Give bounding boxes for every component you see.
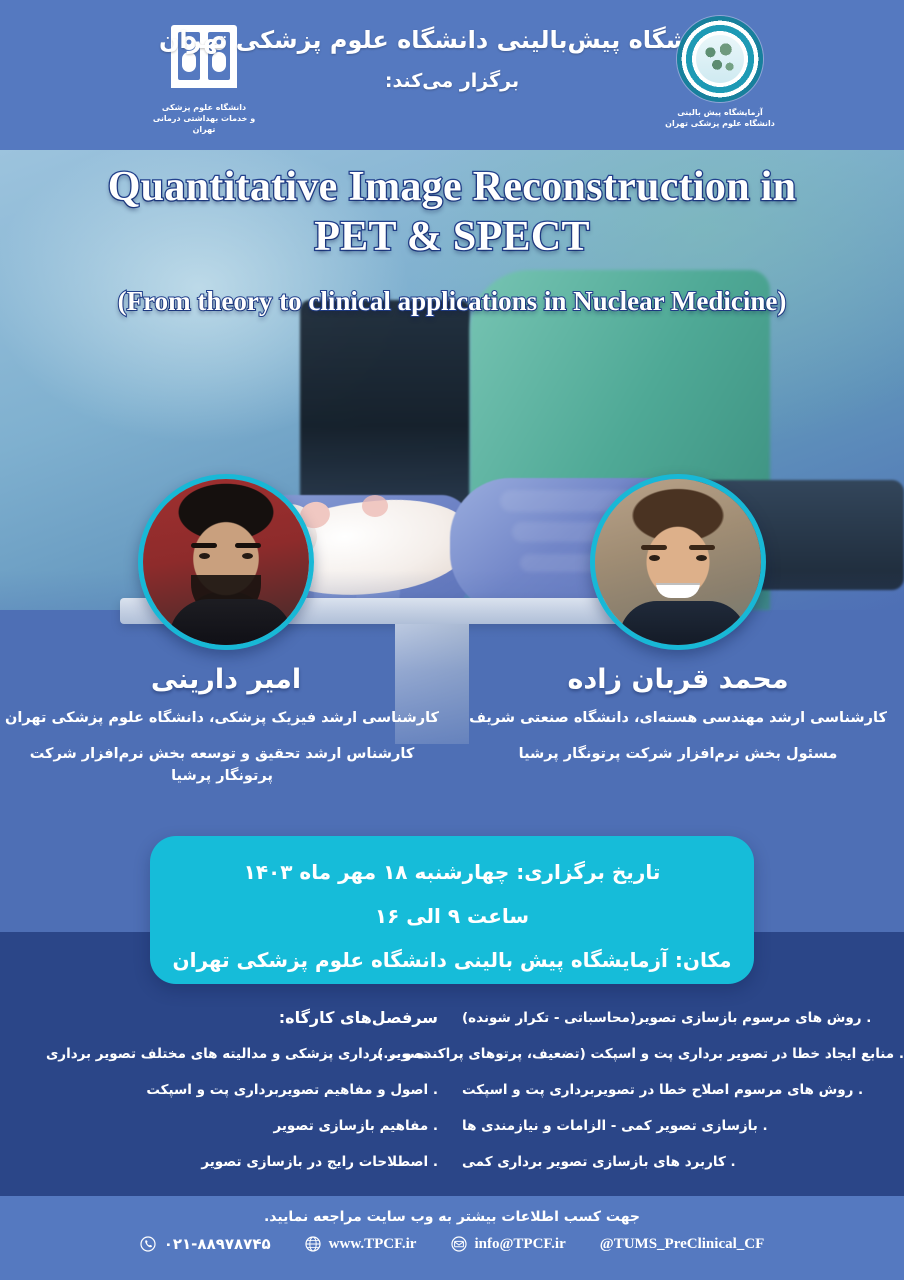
photo-detail: [235, 543, 261, 548]
seal-cell-motif: [696, 35, 744, 83]
photo-detail: [641, 545, 667, 550]
topic-item: . منابع ایجاد خطا در تصویر برداری پت و ا…: [462, 1036, 904, 1072]
topic-item: . روش های مرسوم بازسازی تصویر(محاسباتی -…: [462, 1000, 904, 1036]
phone-icon: [140, 1236, 157, 1253]
speaker-name: امیر دارینی: [0, 664, 452, 695]
globe-icon: [305, 1236, 322, 1253]
photo-detail: [656, 583, 700, 598]
speaker-photo-1: [595, 479, 761, 645]
poster-footer: جهت کسب اطلاعات بیشتر به وب سایت مراجعه …: [0, 1196, 904, 1280]
poster-root: دانشگاه علوم پزشکی و خدمات بهداشتی درمان…: [0, 0, 904, 1280]
topic-item: . مفاهیم بازسازی تصویر: [0, 1108, 438, 1144]
avatar: [590, 474, 766, 650]
event-venue: مکان: آزمایشگاه پیش بالینی دانشگاه علوم …: [150, 938, 754, 982]
topic-item: . اصطلاحات رایج در بازسازی تصویر: [0, 1144, 438, 1180]
contact-phone[interactable]: ۰۲۱-۸۸۹۷۸۷۴۵: [140, 1235, 271, 1253]
tums-logo-caption-line1: دانشگاه علوم پزشکی: [148, 102, 260, 113]
photo-detail: [696, 555, 707, 561]
title-line-2: PET & SPECT: [0, 212, 904, 262]
contact-email[interactable]: info@TPCF.ir: [450, 1236, 565, 1253]
speaker-credential-1: کارشناسی ارشد فیزیک پزشکی، دانشگاه علوم …: [0, 707, 452, 729]
website-url: www.TPCF.ir: [329, 1236, 417, 1253]
contact-website[interactable]: www.TPCF.ir: [305, 1236, 417, 1253]
photo-detail: [191, 575, 261, 619]
speaker-name: محمد قربان زاده: [452, 664, 904, 695]
photo-detail: [199, 553, 210, 559]
speaker-credential-2: کارشناس ارشد تحقیق و توسعه بخش نرم‌افزار…: [0, 743, 452, 787]
photo-detail: [649, 555, 660, 561]
topics-heading: سرفصل‌های کارگاه:: [0, 1000, 438, 1036]
preclinical-lab-logo: آزمایشگاه پیش بالینی دانشگاه علوم پزشکی …: [660, 16, 780, 129]
footer-note: جهت کسب اطلاعات بیشتر به وب سایت مراجعه …: [0, 1196, 904, 1225]
topic-item: . کاربرد های بازسازی تصویر برداری کمی: [462, 1144, 904, 1180]
speakers-section: محمد قربان زاده کارشناسی ارشد مهندسی هست…: [0, 474, 904, 814]
preclinical-seal-icon: [677, 16, 763, 102]
topics-section: . روش های مرسوم بازسازی تصویر(محاسباتی -…: [0, 1000, 904, 1180]
poster-title-block: Quantitative Image Reconstruction in PET…: [0, 162, 904, 318]
speaker-credential-1: کارشناسی ارشد مهندسی هسته‌ای، دانشگاه صن…: [452, 707, 904, 729]
speaker-credential-2: مسئول بخش نرم‌افزار شرکت پرتونگار پرشیا: [452, 743, 904, 765]
email-icon: [450, 1236, 467, 1253]
speaker-card-1: محمد قربان زاده کارشناسی ارشد مهندسی هست…: [452, 474, 904, 765]
speaker-photo-2: [143, 479, 309, 645]
photo-detail: [689, 545, 715, 550]
phone-number: ۰۲۱-۸۸۹۷۸۷۴۵: [164, 1235, 271, 1253]
contact-row: ۰۲۱-۸۸۹۷۸۷۴۵ www.TPCF.ir: [0, 1235, 904, 1253]
topics-column-left: . روش های مرسوم بازسازی تصویر(محاسباتی -…: [452, 1000, 904, 1180]
topics-column-right: سرفصل‌های کارگاه: . تصویر برداری پزشکی و…: [0, 1000, 452, 1180]
poster-header: دانشگاه علوم پزشکی و خدمات بهداشتی درمان…: [0, 0, 904, 150]
event-time: ساعت ۹ الی ۱۶: [150, 894, 754, 938]
preclinical-logo-caption-line2: دانشگاه علوم پزشکی تهران: [660, 118, 780, 129]
avatar: [138, 474, 314, 650]
title-line-1: Quantitative Image Reconstruction in: [0, 162, 904, 212]
title-subtitle: (From theory to clinical applications in…: [0, 284, 904, 318]
speaker-card-2: امیر دارینی کارشناسی ارشد فیزیک پزشکی، د…: [0, 474, 452, 787]
photo-detail: [191, 543, 217, 548]
topic-item: . بازسازی تصویر کمی - الزامات و نیازمندی…: [462, 1108, 904, 1144]
photo-detail: [242, 553, 253, 559]
topic-item: . تصویر برداری پزشکی و مدالیته های مختلف…: [0, 1036, 438, 1072]
tums-logo-caption-line2: و خدمات بهداشتی درمانی تهران: [148, 113, 260, 135]
event-date: تاریخ برگزاری: چهارشنبه ۱۸ مهر ماه ۱۴۰۳: [150, 850, 754, 894]
contact-social[interactable]: @TUMS_PreClinical_CF: [600, 1236, 765, 1253]
topic-item: . روش های مرسوم اصلاح خطا در تصویربرداری…: [462, 1072, 904, 1108]
email-address: info@TPCF.ir: [474, 1236, 565, 1253]
social-handle: @TUMS_PreClinical_CF: [600, 1236, 765, 1253]
event-details-card: تاریخ برگزاری: چهارشنبه ۱۸ مهر ماه ۱۴۰۳ …: [150, 836, 754, 984]
topic-item: . اصول و مفاهیم تصویربرداری پت و اسپکت: [0, 1072, 438, 1108]
preclinical-logo-caption-line1: آزمایشگاه پیش بالینی: [660, 107, 780, 118]
